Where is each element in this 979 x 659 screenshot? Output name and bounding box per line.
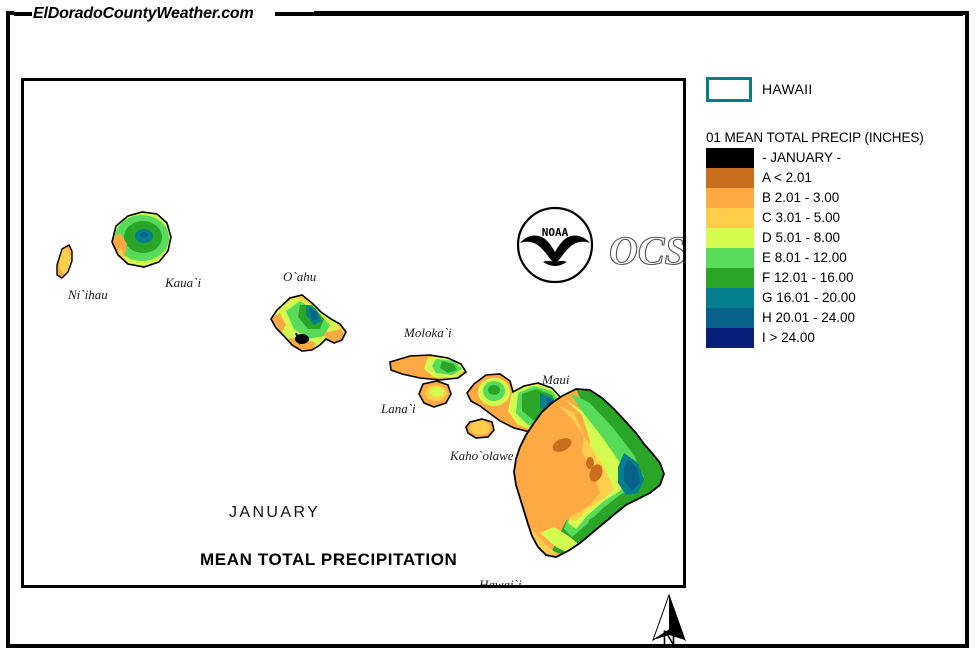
legend-row: H 20.01 - 24.00 [706,308,966,328]
legend-row: E 8.01 - 12.00 [706,248,966,268]
title-rule-right [275,12,963,16]
legend-row: - JANUARY - [706,148,966,168]
legend-swatch-month [706,148,754,168]
title-rule-left [14,12,32,16]
legend-label-e: E 8.01 - 12.00 [762,250,847,265]
legend-swatch-g [706,288,754,308]
legend-swatch-h [706,308,754,328]
island-label-hawaii: Hawai`i [479,577,522,588]
legend-swatch-f [706,268,754,288]
legend-class-list: - JANUARY - A < 2.01 B 2.01 - 3.00 C 3.0… [706,148,966,348]
island-label-molokai: Moloka`i [404,325,452,341]
site-title: ElDoradoCountyWeather.com [33,4,254,24]
legend-heading: 01 MEAN TOTAL PRECIP (INCHES) [706,130,924,145]
legend-row: A < 2.01 [706,168,966,188]
island-oahu [268,291,350,355]
island-label-lanai: Lana`i [381,401,416,417]
map-panel[interactable]: Ni`ihau Kaua`i O`ahu Moloka`i Lana`i Mau… [21,78,686,588]
island-niihau [54,241,78,283]
legend-swatch-b [706,188,754,208]
legend-swatch-a [706,168,754,188]
legend-label-g: G 16.01 - 20.00 [762,290,856,305]
legend-row: B 2.01 - 3.00 [706,188,966,208]
map-caption-month: JANUARY [229,504,320,522]
svg-text:NOAA: NOAA [542,226,569,239]
island-label-oahu: O`ahu [283,269,316,285]
legend-label-d: D 5.01 - 8.00 [762,230,840,245]
island-label-niihau: Ni`ihau [68,287,108,303]
ocs-wordmark: OCS [607,224,686,276]
legend-swatch-i [706,328,754,348]
island-label-kahoolawe: Kaho`olawe [450,448,514,464]
legend-row: F 12.01 - 16.00 [706,268,966,288]
legend-label-b: B 2.01 - 3.00 [762,190,839,205]
legend-swatch-e [706,248,754,268]
island-label-kauai: Kaua`i [165,275,201,291]
legend-swatch-d [706,228,754,248]
hawaii-precipitation-map [24,81,683,585]
hawaii-outline-swatch [706,77,752,102]
legend-label-a: A < 2.01 [762,170,812,185]
map-caption-title: MEAN TOTAL PRECIPITATION [200,550,457,570]
legend-label-h: H 20.01 - 24.00 [762,310,855,325]
legend-row: G 16.01 - 20.00 [706,288,966,308]
island-kahoolawe [462,415,500,443]
legend-swatch-c [706,208,754,228]
legend-row: D 5.01 - 8.00 [706,228,966,248]
hawaii-label: HAWAII [762,81,813,97]
legend-label-c: C 3.01 - 5.00 [762,210,840,225]
island-molokai [384,351,472,385]
island-kauai [109,209,177,271]
legend-label-i: I > 24.00 [762,330,815,345]
map-page: ElDoradoCountyWeather.com [0,0,979,659]
legend-region-key: HAWAII [706,76,966,106]
legend-label-f: F 12.01 - 16.00 [762,270,854,285]
island-label-maui: Maui [542,372,569,388]
legend-row: I > 24.00 [706,328,966,348]
legend-label-month: - JANUARY - [762,150,841,165]
legend-row: C 3.01 - 5.00 [706,208,966,228]
island-lanai [416,378,456,410]
north-label: N [652,628,686,650]
legend-panel: HAWAII 01 MEAN TOTAL PRECIP (INCHES) - J… [706,76,966,106]
noaa-logo-icon: NOAA [515,205,595,285]
svg-text:OCS: OCS [609,228,686,273]
